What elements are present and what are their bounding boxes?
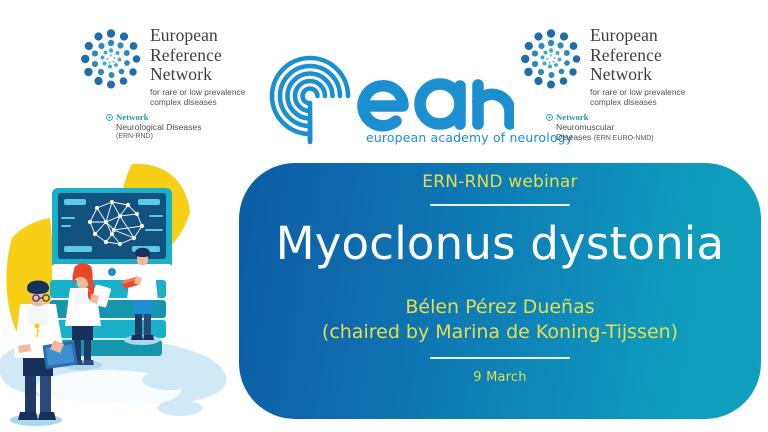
- monitor-power-dot: [108, 268, 116, 276]
- divider-top: [430, 204, 570, 206]
- webinar-speaker-block: Bélen Pérez Dueñas (chaired by Marina de…: [322, 295, 678, 345]
- ern-network-name: Neuromuscular: [556, 122, 736, 132]
- webinar-date: 9 March: [473, 370, 526, 385]
- ern-rnd-logo: European Reference Network for rare or l…: [80, 26, 290, 152]
- webinar-speaker-name: Bélen Pérez Dueñas: [405, 296, 594, 318]
- ern-euro-nmd-logo: European Reference Network for rare or l…: [520, 26, 730, 152]
- ean-logo: european academy of neurology: [262, 46, 514, 146]
- ern-word-european: European: [150, 26, 300, 46]
- ern-word-european: European: [590, 26, 740, 46]
- ern-dot-spiral-icon: [520, 28, 582, 90]
- logo-header-row: European Reference Network for rare or l…: [0, 0, 768, 160]
- ern-network-label: Network: [556, 112, 589, 122]
- network-target-icon: [546, 114, 553, 121]
- webinar-chair: (chaired by Marina de Koning-Tijssen): [322, 320, 678, 345]
- screen-bar-tl: [64, 199, 86, 205]
- floor-ellipse-2: [158, 400, 202, 416]
- ern-wordmark: European Reference Network for rare or l…: [590, 26, 740, 107]
- ern-word-reference: Reference: [590, 46, 740, 66]
- webinar-announcement-slide: European Reference Network for rare or l…: [0, 0, 768, 432]
- ern-subtitle-line1: for rare or low prevalence: [590, 87, 740, 97]
- webinar-kicker: ERN-RND webinar: [422, 172, 578, 192]
- screen-bar-tr: [138, 199, 160, 205]
- screen-bar-bl: [64, 246, 92, 252]
- webinar-title: Myoclonus dystonia: [276, 217, 725, 271]
- doctors-brain-network-illustration: [0, 160, 244, 432]
- ern-network-name-2: Diseases (ERN EURO-NMD): [556, 132, 736, 144]
- network-target-icon: [106, 114, 113, 121]
- divider-bottom: [430, 357, 570, 359]
- webinar-info-panel: ERN-RND webinar Myoclonus dystonia Bélen…: [239, 163, 761, 419]
- ern-word-network: Network: [590, 65, 740, 85]
- floor-ellipse-1: [142, 370, 198, 390]
- ern-network-name-2-text: Diseases: [556, 132, 591, 142]
- ern-network-label: Network: [116, 112, 149, 122]
- ern-subtitle-line2: complex diseases: [590, 97, 740, 107]
- ern-network-block: Network Neuromuscular Diseases (ERN EURO…: [546, 112, 736, 145]
- ern-network-code: (ERN EURO-NMD): [594, 135, 654, 142]
- ern-dot-spiral-icon: [80, 28, 142, 90]
